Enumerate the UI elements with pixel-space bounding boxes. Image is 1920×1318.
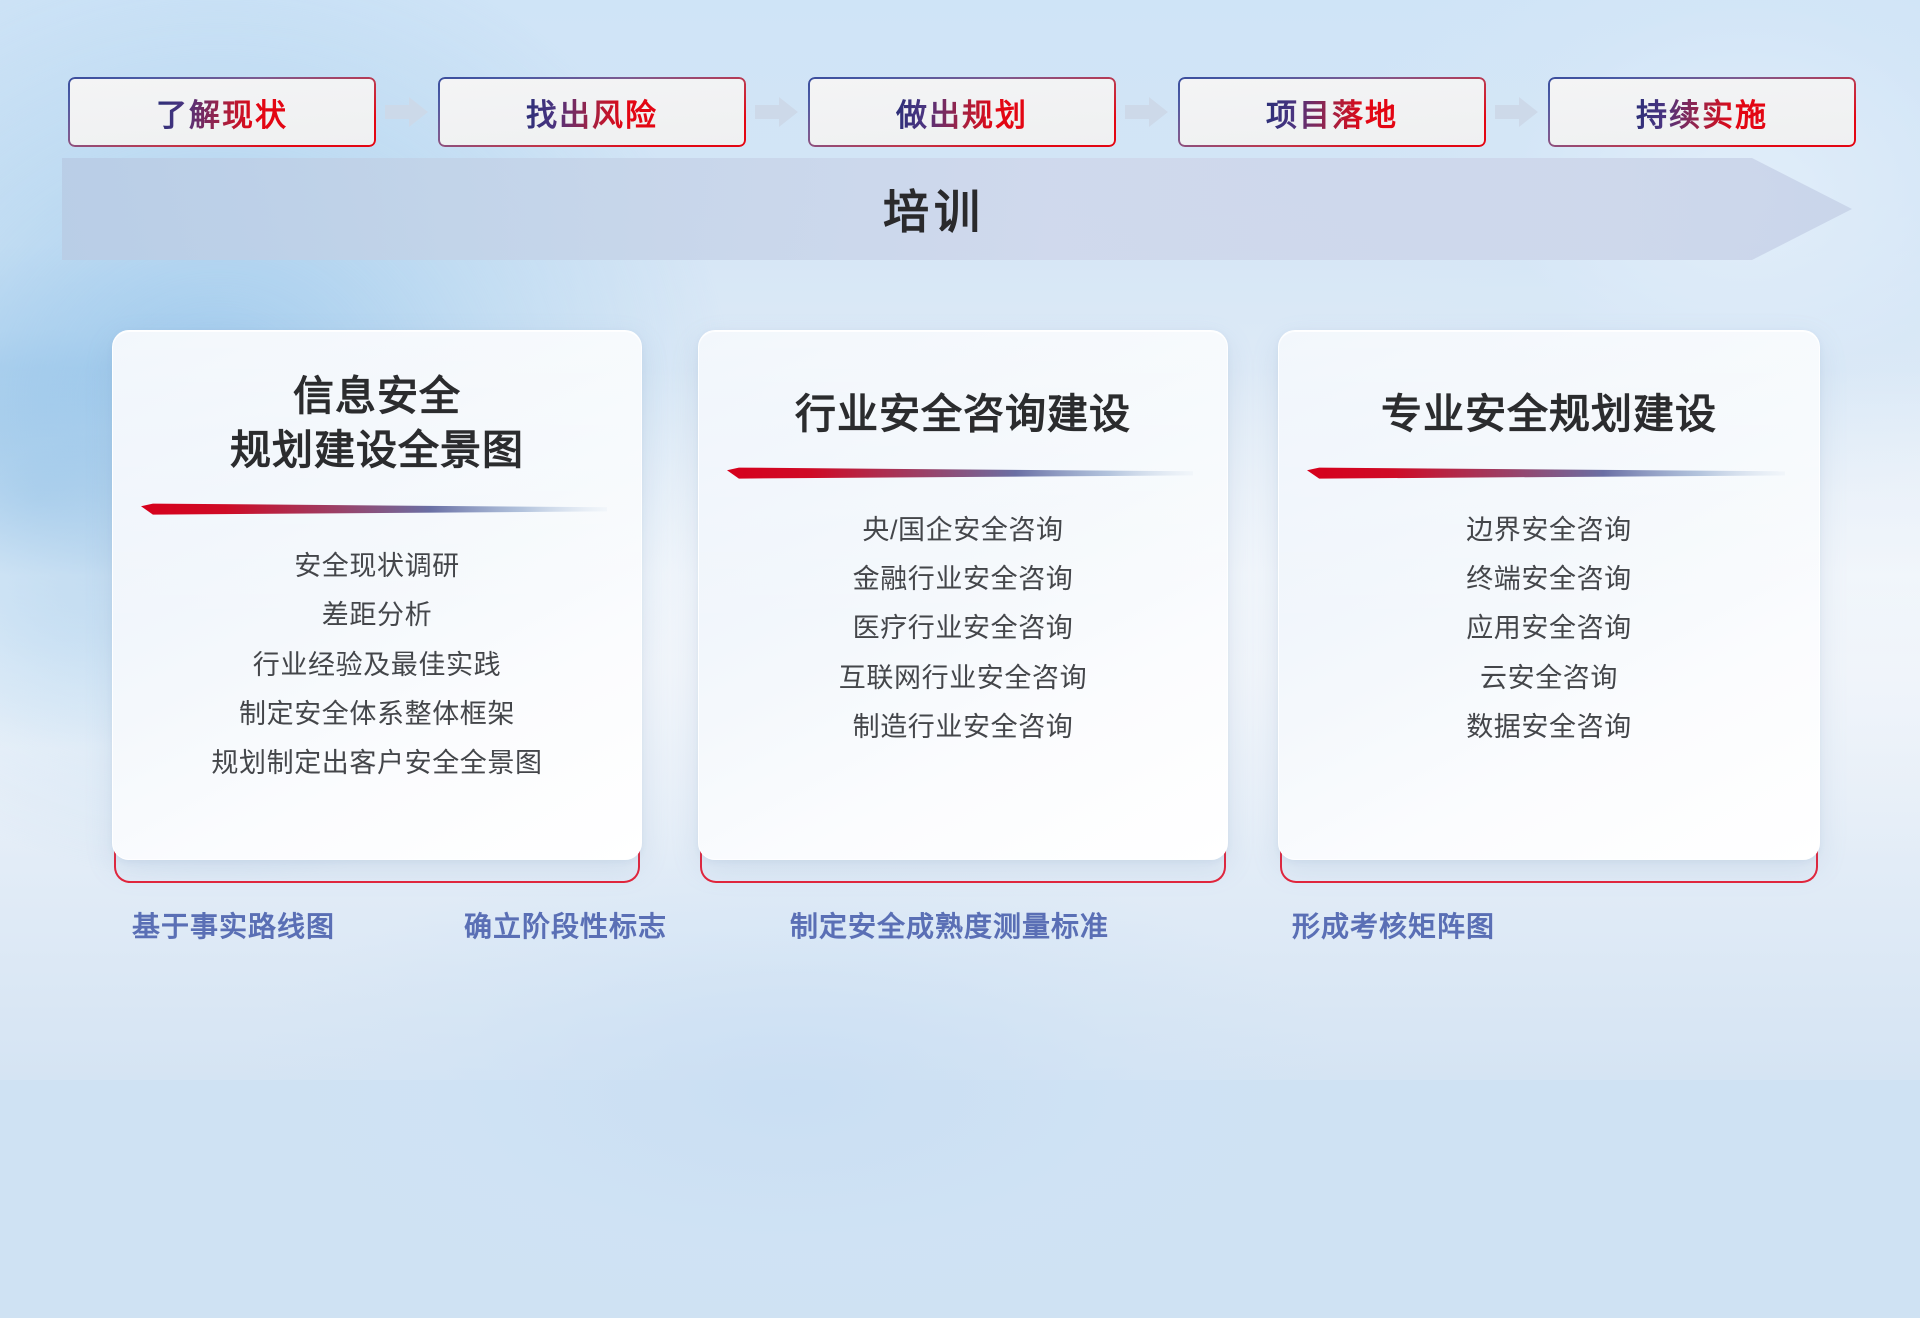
card-title: 专业安全规划建设	[1305, 387, 1793, 441]
card-surface[interactable]: 行业安全咨询建设	[698, 330, 1228, 860]
list-item: 安全现状调研	[133, 547, 621, 586]
footnote-0: 基于事实路线图	[132, 905, 335, 945]
tapered-divider-icon	[1307, 467, 1785, 483]
footnote-row: 基于事实路线图 确立阶段性标志 制定安全成熟度测量标准 形成考核矩阵图	[0, 905, 1920, 965]
tapered-divider-icon	[141, 503, 607, 519]
process-step-row: 了解现状 找出风险 做出规划 项目落地	[68, 76, 1858, 148]
process-step-label: 项目落地	[1266, 90, 1398, 135]
list-item: 制造行业安全咨询	[719, 708, 1207, 747]
card-list: 央/国企安全咨询 金融行业安全咨询 医疗行业安全咨询 互联网行业安全咨询 制造行…	[699, 511, 1227, 747]
list-item: 边界安全咨询	[1299, 511, 1799, 550]
arrow-right-icon	[376, 88, 438, 136]
footnote-2: 制定安全成熟度测量标准	[790, 905, 1109, 945]
process-step-label: 持续实施	[1636, 90, 1768, 135]
card-1[interactable]: 行业安全咨询建设	[698, 330, 1228, 875]
list-item: 终端安全咨询	[1299, 560, 1799, 599]
training-banner-title: 培训	[62, 158, 1852, 260]
footnote-3: 形成考核矩阵图	[1292, 905, 1495, 945]
arrow-right-icon	[746, 88, 808, 136]
list-item: 应用安全咨询	[1299, 609, 1799, 648]
list-item: 数据安全咨询	[1299, 708, 1799, 747]
list-item: 互联网行业安全咨询	[719, 659, 1207, 698]
list-item: 央/国企安全咨询	[719, 511, 1207, 550]
training-banner: 培训	[62, 158, 1852, 260]
list-item: 医疗行业安全咨询	[719, 609, 1207, 648]
list-item: 金融行业安全咨询	[719, 560, 1207, 599]
list-item: 规划制定出客户安全全景图	[133, 744, 621, 783]
process-step-label: 做出规划	[896, 90, 1028, 135]
card-surface[interactable]: 信息安全 规划建设全景图	[112, 330, 642, 860]
process-step-3[interactable]: 项目落地	[1178, 77, 1486, 147]
list-item: 差距分析	[133, 596, 621, 635]
card-title: 行业安全咨询建设	[725, 387, 1201, 441]
list-item: 行业经验及最佳实践	[133, 646, 621, 685]
card-0[interactable]: 信息安全 规划建设全景图	[112, 330, 642, 875]
card-list: 边界安全咨询 终端安全咨询 应用安全咨询 云安全咨询 数据安全咨询	[1279, 511, 1819, 747]
card-row: 信息安全 规划建设全景图	[0, 330, 1920, 875]
process-step-1[interactable]: 找出风险	[438, 77, 746, 147]
slide-stage: 了解现状 找出风险 做出规划 项目落地	[0, 0, 1920, 1080]
card-surface[interactable]: 专业安全规划建设	[1278, 330, 1820, 860]
process-step-2[interactable]: 做出规划	[808, 77, 1116, 147]
process-step-4[interactable]: 持续实施	[1548, 77, 1856, 147]
card-list: 安全现状调研 差距分析 行业经验及最佳实践 制定安全体系整体框架 规划制定出客户…	[113, 547, 641, 783]
process-step-label: 了解现状	[156, 90, 288, 135]
list-item: 云安全咨询	[1299, 659, 1799, 698]
card-title: 信息安全 规划建设全景图	[139, 369, 615, 477]
arrow-right-icon	[1486, 88, 1548, 136]
card-2[interactable]: 专业安全规划建设	[1278, 330, 1820, 875]
footnote-1: 确立阶段性标志	[464, 905, 667, 945]
process-step-label: 找出风险	[526, 90, 658, 135]
tapered-divider-icon	[727, 467, 1193, 483]
list-item: 制定安全体系整体框架	[133, 695, 621, 734]
arrow-right-icon	[1116, 88, 1178, 136]
process-step-0[interactable]: 了解现状	[68, 77, 376, 147]
